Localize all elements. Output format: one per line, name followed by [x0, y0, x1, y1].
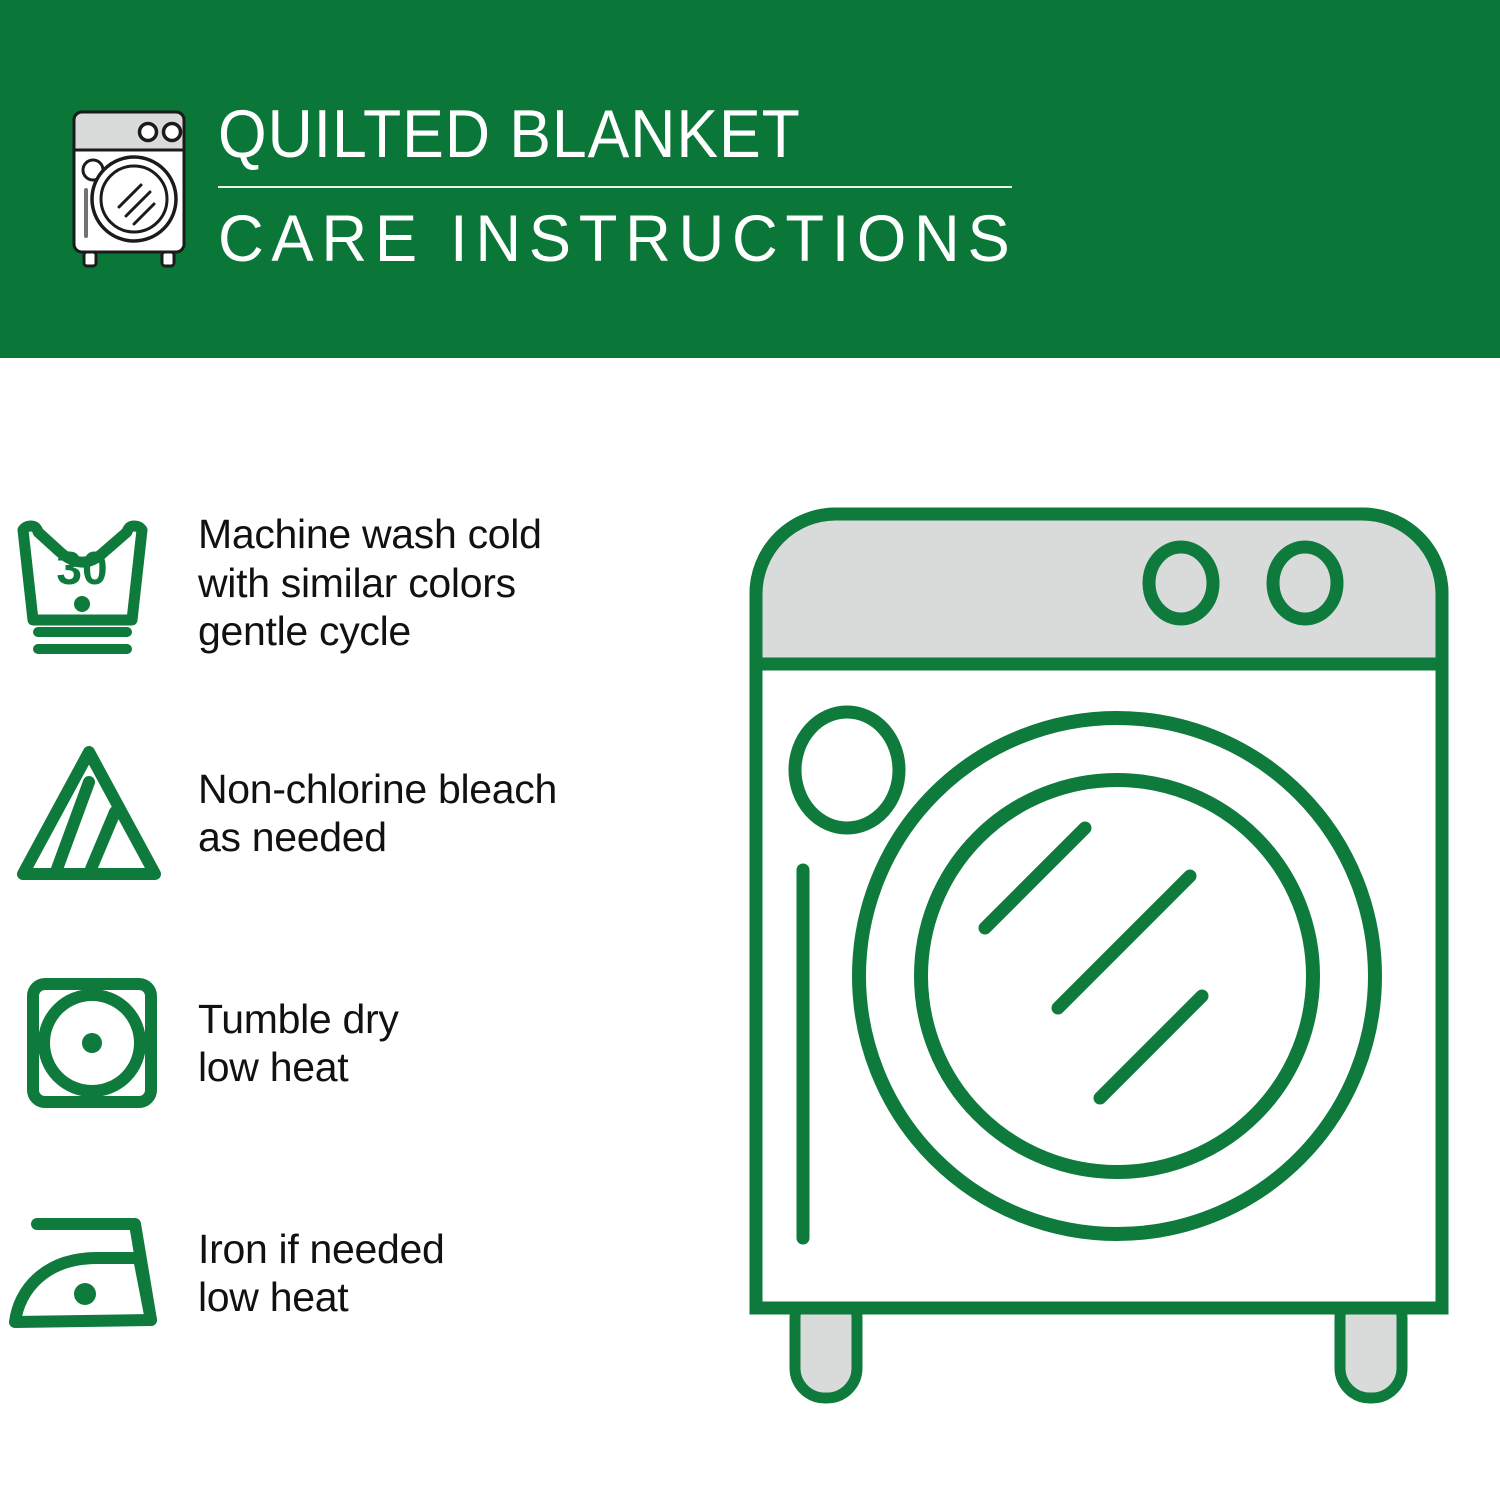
svg-text:30: 30	[56, 542, 107, 594]
page-title: QUILTED BLANKET	[218, 100, 972, 168]
wash-tub-30-gentle-icon: 30	[0, 508, 180, 658]
care-label-tumble-dry: Tumble dry low heat	[180, 995, 399, 1092]
care-row-machine-wash: 30 Machine wash cold with similar colors…	[0, 508, 700, 658]
header-text-block: QUILTED BLANKET CARE INSTRUCTIONS	[218, 100, 1038, 273]
washing-machine-icon	[62, 104, 202, 269]
care-row-iron: Iron if needed low heat	[0, 1198, 700, 1348]
washing-machine-illustration	[740, 498, 1460, 1428]
page-subtitle: CARE INSTRUCTIONS	[218, 204, 1005, 273]
care-row-tumble-dry: Tumble dry low heat	[0, 968, 700, 1118]
care-row-bleach: Non-chlorine bleach as needed	[0, 738, 700, 888]
care-instructions-page: QUILTED BLANKET CARE INSTRUCTIONS 30	[0, 0, 1500, 1500]
care-label-machine-wash: Machine wash cold with similar colors ge…	[180, 510, 542, 655]
care-label-iron: Iron if needed low heat	[180, 1225, 445, 1322]
care-instruction-list: 30 Machine wash cold with similar colors…	[0, 358, 720, 1500]
content-area: 30 Machine wash cold with similar colors…	[0, 358, 1500, 1500]
tumble-dry-low-heat-icon	[0, 968, 180, 1118]
care-label-bleach: Non-chlorine bleach as needed	[180, 765, 557, 862]
iron-low-heat-icon	[0, 1198, 180, 1348]
header-banner: QUILTED BLANKET CARE INSTRUCTIONS	[0, 0, 1500, 358]
non-chlorine-bleach-triangle-icon	[0, 738, 180, 888]
title-divider	[218, 186, 1012, 188]
